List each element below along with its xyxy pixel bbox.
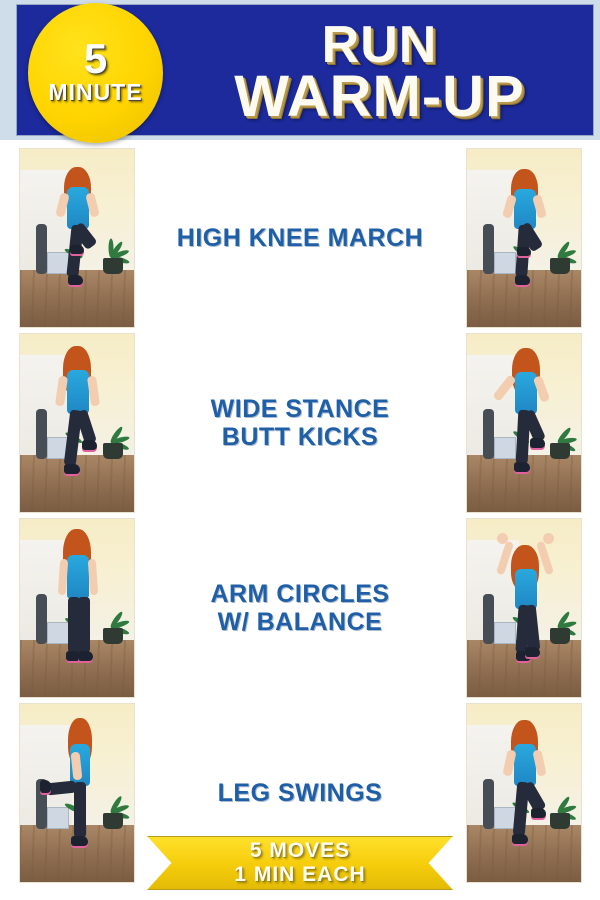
exercise-photo-right — [466, 148, 582, 328]
badge-unit: MINUTE — [48, 79, 142, 106]
exercise-photo-left — [19, 148, 135, 328]
exercise-photo-right — [466, 333, 582, 513]
exercise-grid: HIGH KNEE MARCH — [0, 140, 600, 900]
header-banner: RUN WARM-UP 5 MINUTE — [0, 0, 600, 140]
exercise-photo-left — [19, 518, 135, 698]
exercise-label: WIDE STANCE BUTT KICKS — [145, 333, 455, 513]
exercise-row: ARM CIRCLES W/ BALANCE — [0, 518, 600, 698]
exercise-photo-left — [19, 333, 135, 513]
infographic-page: RUN WARM-UP 5 MINUTE — [0, 0, 600, 900]
exercise-row: HIGH KNEE MARCH — [0, 148, 600, 328]
exercise-title-line1: HIGH KNEE MARCH — [177, 224, 423, 252]
exercise-label: HIGH KNEE MARCH — [145, 148, 455, 328]
footer-line1: 5 MOVES — [250, 839, 350, 863]
footer-line2: 1 MIN EACH — [234, 863, 365, 887]
exercise-title-line2: BUTT KICKS — [222, 423, 378, 451]
exercise-title-line1: ARM CIRCLES — [210, 580, 389, 608]
header-title-block: RUN WARM-UP — [172, 7, 587, 139]
badge-number: 5 — [84, 40, 107, 78]
duration-badge: 5 MINUTE — [28, 3, 163, 143]
exercise-photo-left — [19, 703, 135, 883]
footer-ribbon: 5 MOVES 1 MIN EACH — [147, 836, 453, 890]
exercise-title-line1: WIDE STANCE — [211, 395, 390, 423]
exercise-label: ARM CIRCLES W/ BALANCE — [145, 518, 455, 698]
exercise-row: WIDE STANCE BUTT KICKS — [0, 333, 600, 513]
exercise-title-line2: W/ BALANCE — [218, 608, 383, 636]
exercise-photo-right — [466, 518, 582, 698]
header-title-line2: WARM-UP — [234, 69, 525, 126]
exercise-photo-right — [466, 703, 582, 883]
exercise-title-line1: LEG SWINGS — [218, 779, 383, 807]
